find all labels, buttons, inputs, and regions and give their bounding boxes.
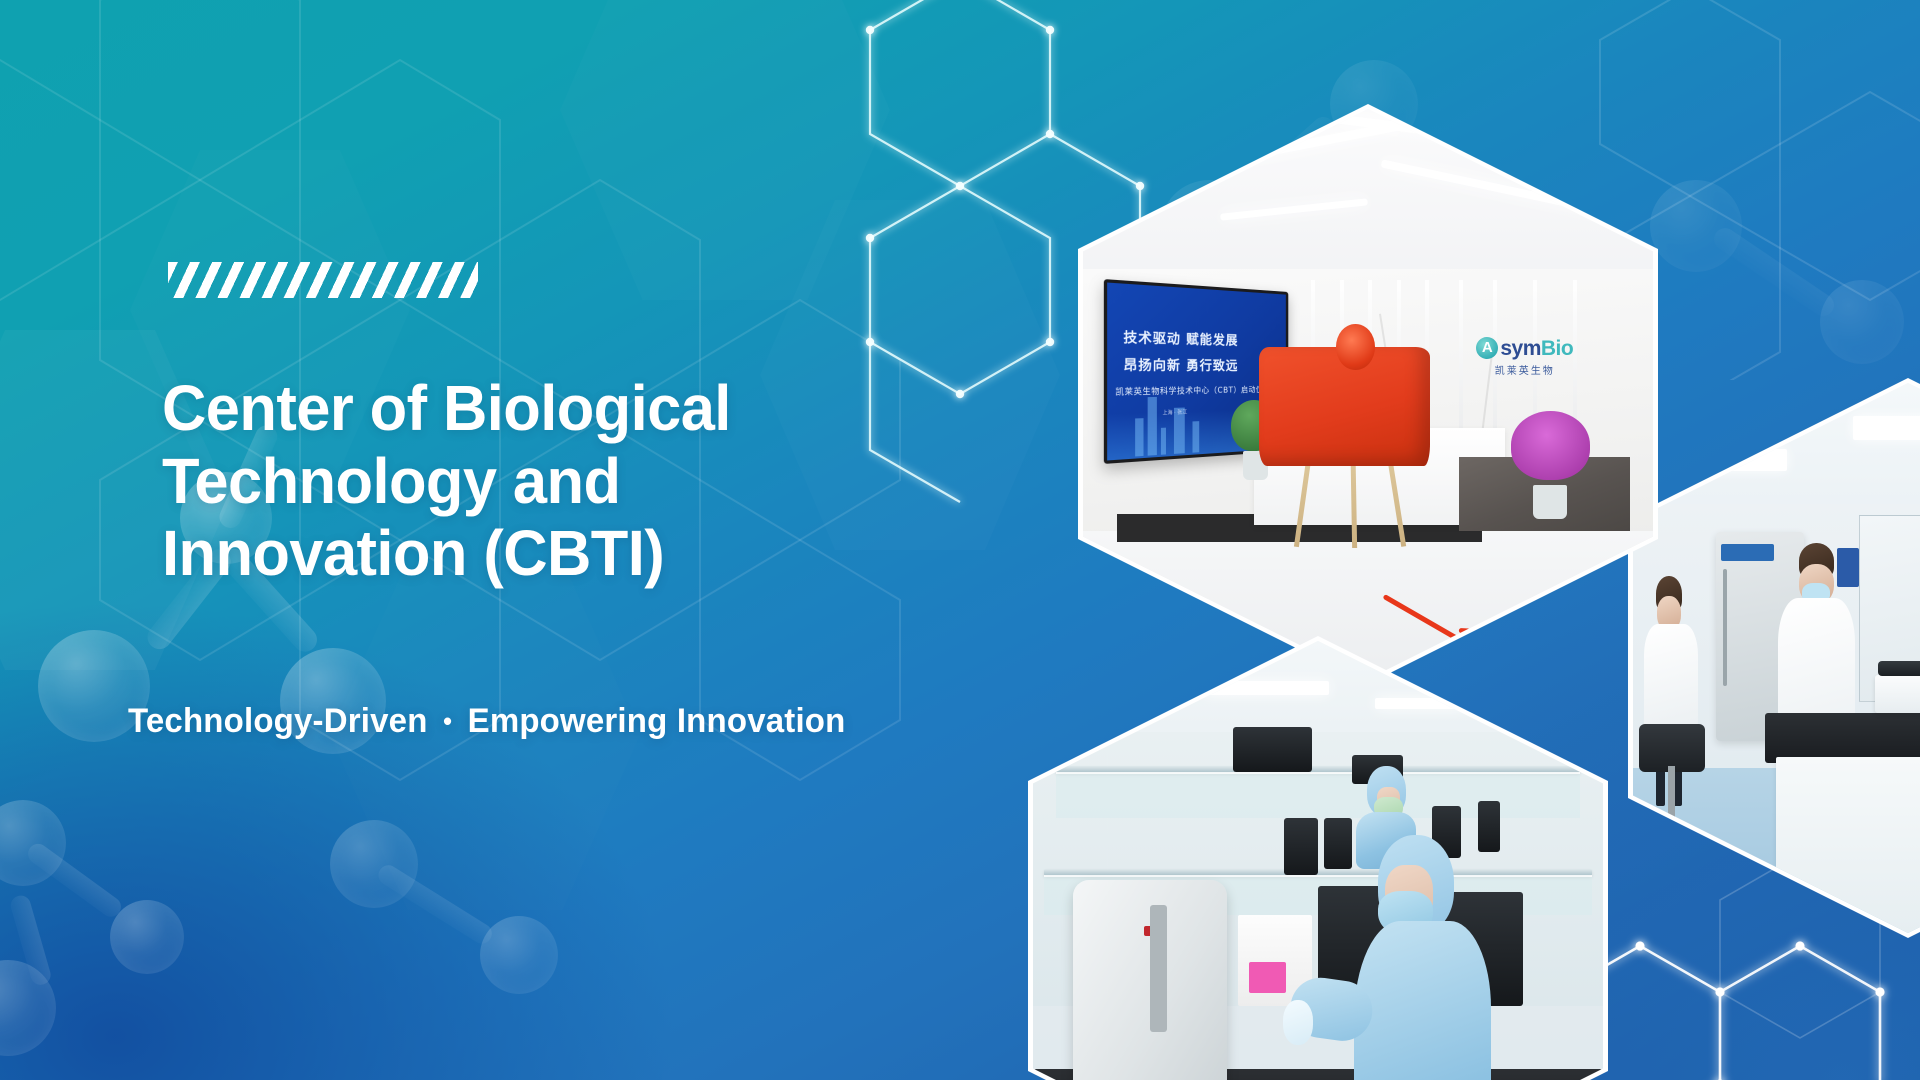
- tagline-separator-icon: •: [443, 706, 452, 736]
- asymbio-logo-wordmark: symBio: [1500, 337, 1573, 360]
- scene-lobby-ceremony: 技术驱动 赋能发展 昂扬向新 勇行致远 凯莱英生物科学技术中心（CBT）启动仪式…: [1083, 109, 1653, 679]
- asymbio-wall-logo: A symBio 凯莱英生物: [1476, 337, 1573, 377]
- page-title: Center of Biological Technology and Inno…: [162, 372, 892, 590]
- page-title-line-2: Technology and: [162, 445, 892, 518]
- tv-location: 上海 · 张江: [1162, 408, 1187, 416]
- hex-photo-lobby-ceremony: 技术驱动 赋能发展 昂扬向新 勇行致远 凯莱英生物科学技术中心（CBT）启动仪式…: [1078, 104, 1658, 684]
- page-title-line-1: Center of Biological: [162, 372, 892, 445]
- tv-headline-line-2: 昂扬向新 勇行致远: [1123, 354, 1238, 374]
- hero-text-block: Center of Biological Technology and Inno…: [0, 0, 1150, 1080]
- scene-lab-bench: [1633, 383, 1920, 933]
- red-flower: [1336, 324, 1375, 370]
- tv-headline-line-1: 技术驱动 赋能发展: [1123, 325, 1238, 347]
- lab-stool: [1639, 724, 1705, 845]
- hatch-decoration: [168, 262, 478, 298]
- hero-banner: 技术驱动 赋能发展 昂扬向新 勇行致远 凯莱英生物科学技术中心（CBT）启动仪式…: [0, 0, 1920, 1080]
- tagline: Technology-Driven•Empowering Innovation: [128, 702, 845, 741]
- flow-cytometer: [1073, 880, 1227, 1080]
- page-title-line-3: Innovation (CBTI): [162, 517, 892, 590]
- hex-photo-lab-bench: [1628, 378, 1920, 938]
- asymbio-logo-letter: A: [1476, 337, 1498, 359]
- hex-photo-inner: 技术驱动 赋能发展 昂扬向新 勇行致远 凯莱英生物科学技术中心（CBT）启动仪式…: [1083, 109, 1653, 679]
- tv-subtitle: 凯莱英生物科学技术中心（CBT）启动仪式: [1115, 384, 1270, 397]
- tagline-left: Technology-Driven: [128, 702, 428, 740]
- asymbio-logo-mark: A: [1476, 337, 1498, 359]
- red-ribbon: [1459, 628, 1549, 638]
- hex-photo-inner: [1633, 383, 1920, 933]
- tagline-right: Empowering Innovation: [468, 702, 846, 740]
- asymbio-logo-chinese: 凯莱英生物: [1476, 362, 1573, 377]
- ceremony-easel: [1288, 320, 1402, 548]
- technician-foreground: [1341, 835, 1512, 1080]
